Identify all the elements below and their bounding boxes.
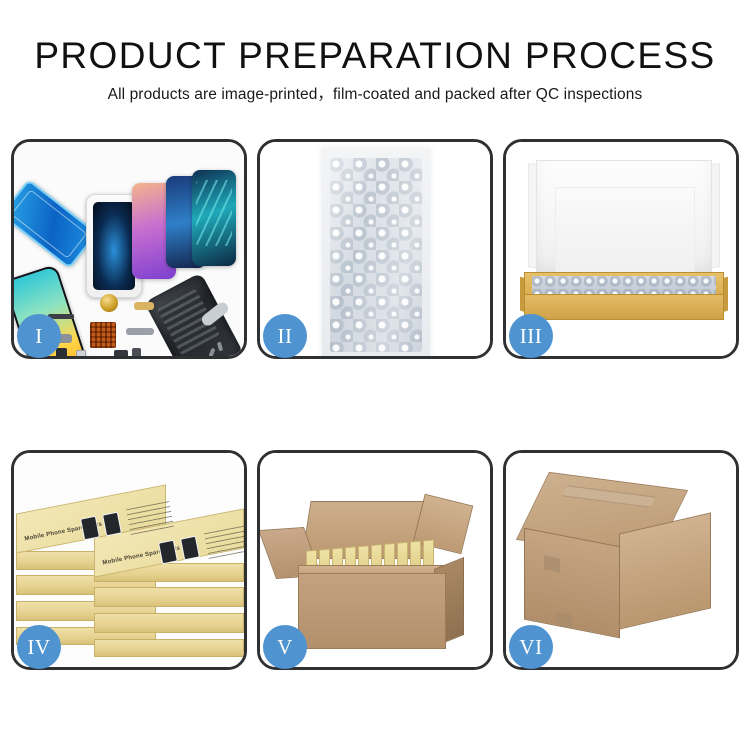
step-badge-6: VI [509, 625, 553, 669]
step-badge-1: I [17, 314, 61, 358]
part-button [132, 348, 141, 356]
part-speaker [114, 350, 128, 356]
page-subtitle: All products are image-printed，film-coat… [0, 84, 750, 106]
product-preparation-infographic: PRODUCT PREPARATION PROCESS All products… [0, 0, 750, 750]
process-step-panel-2: II [257, 139, 493, 359]
plastic-sheen [330, 158, 422, 352]
process-step-panel-1: I [11, 139, 247, 359]
step-badge-4: IV [17, 625, 61, 669]
process-step-panel-5: V [257, 450, 493, 670]
bubble-wrap-package [322, 148, 430, 356]
process-step-panel-4: Mobile Phone Spare Parts Mobile Phone Sp… [11, 450, 247, 670]
header: PRODUCT PREPARATION PROCESS All products… [0, 0, 750, 106]
part-flex-cable-3 [134, 302, 154, 310]
part-flex-cable-2 [126, 328, 154, 335]
page-title: PRODUCT PREPARATION PROCESS [0, 34, 750, 78]
part-camera-module [56, 348, 67, 356]
sealed-carton-label-patch [544, 555, 560, 572]
process-step-grid: I II [11, 139, 739, 670]
sealed-carton-front-panel [524, 528, 620, 639]
step-badge-2: II [263, 314, 307, 358]
part-sim-tray [76, 350, 86, 356]
part-coil [100, 294, 118, 312]
carton-front-panel [298, 573, 446, 649]
process-step-panel-6: VI [503, 450, 739, 670]
part-logic-board [90, 322, 116, 348]
retail-box-slab [94, 613, 244, 633]
phone-screen-teal [192, 170, 236, 266]
retail-box-slab [94, 587, 244, 607]
mailer-box-front [524, 294, 724, 320]
retail-box-slab [94, 639, 244, 657]
mailer-lid [536, 160, 712, 278]
mailer-lid-inner-panel [555, 187, 695, 275]
step-badge-5: V [263, 625, 307, 669]
process-step-panel-3: III [503, 139, 739, 359]
step-badge-3: III [509, 314, 553, 358]
sealed-carton-label-patch [556, 611, 572, 628]
